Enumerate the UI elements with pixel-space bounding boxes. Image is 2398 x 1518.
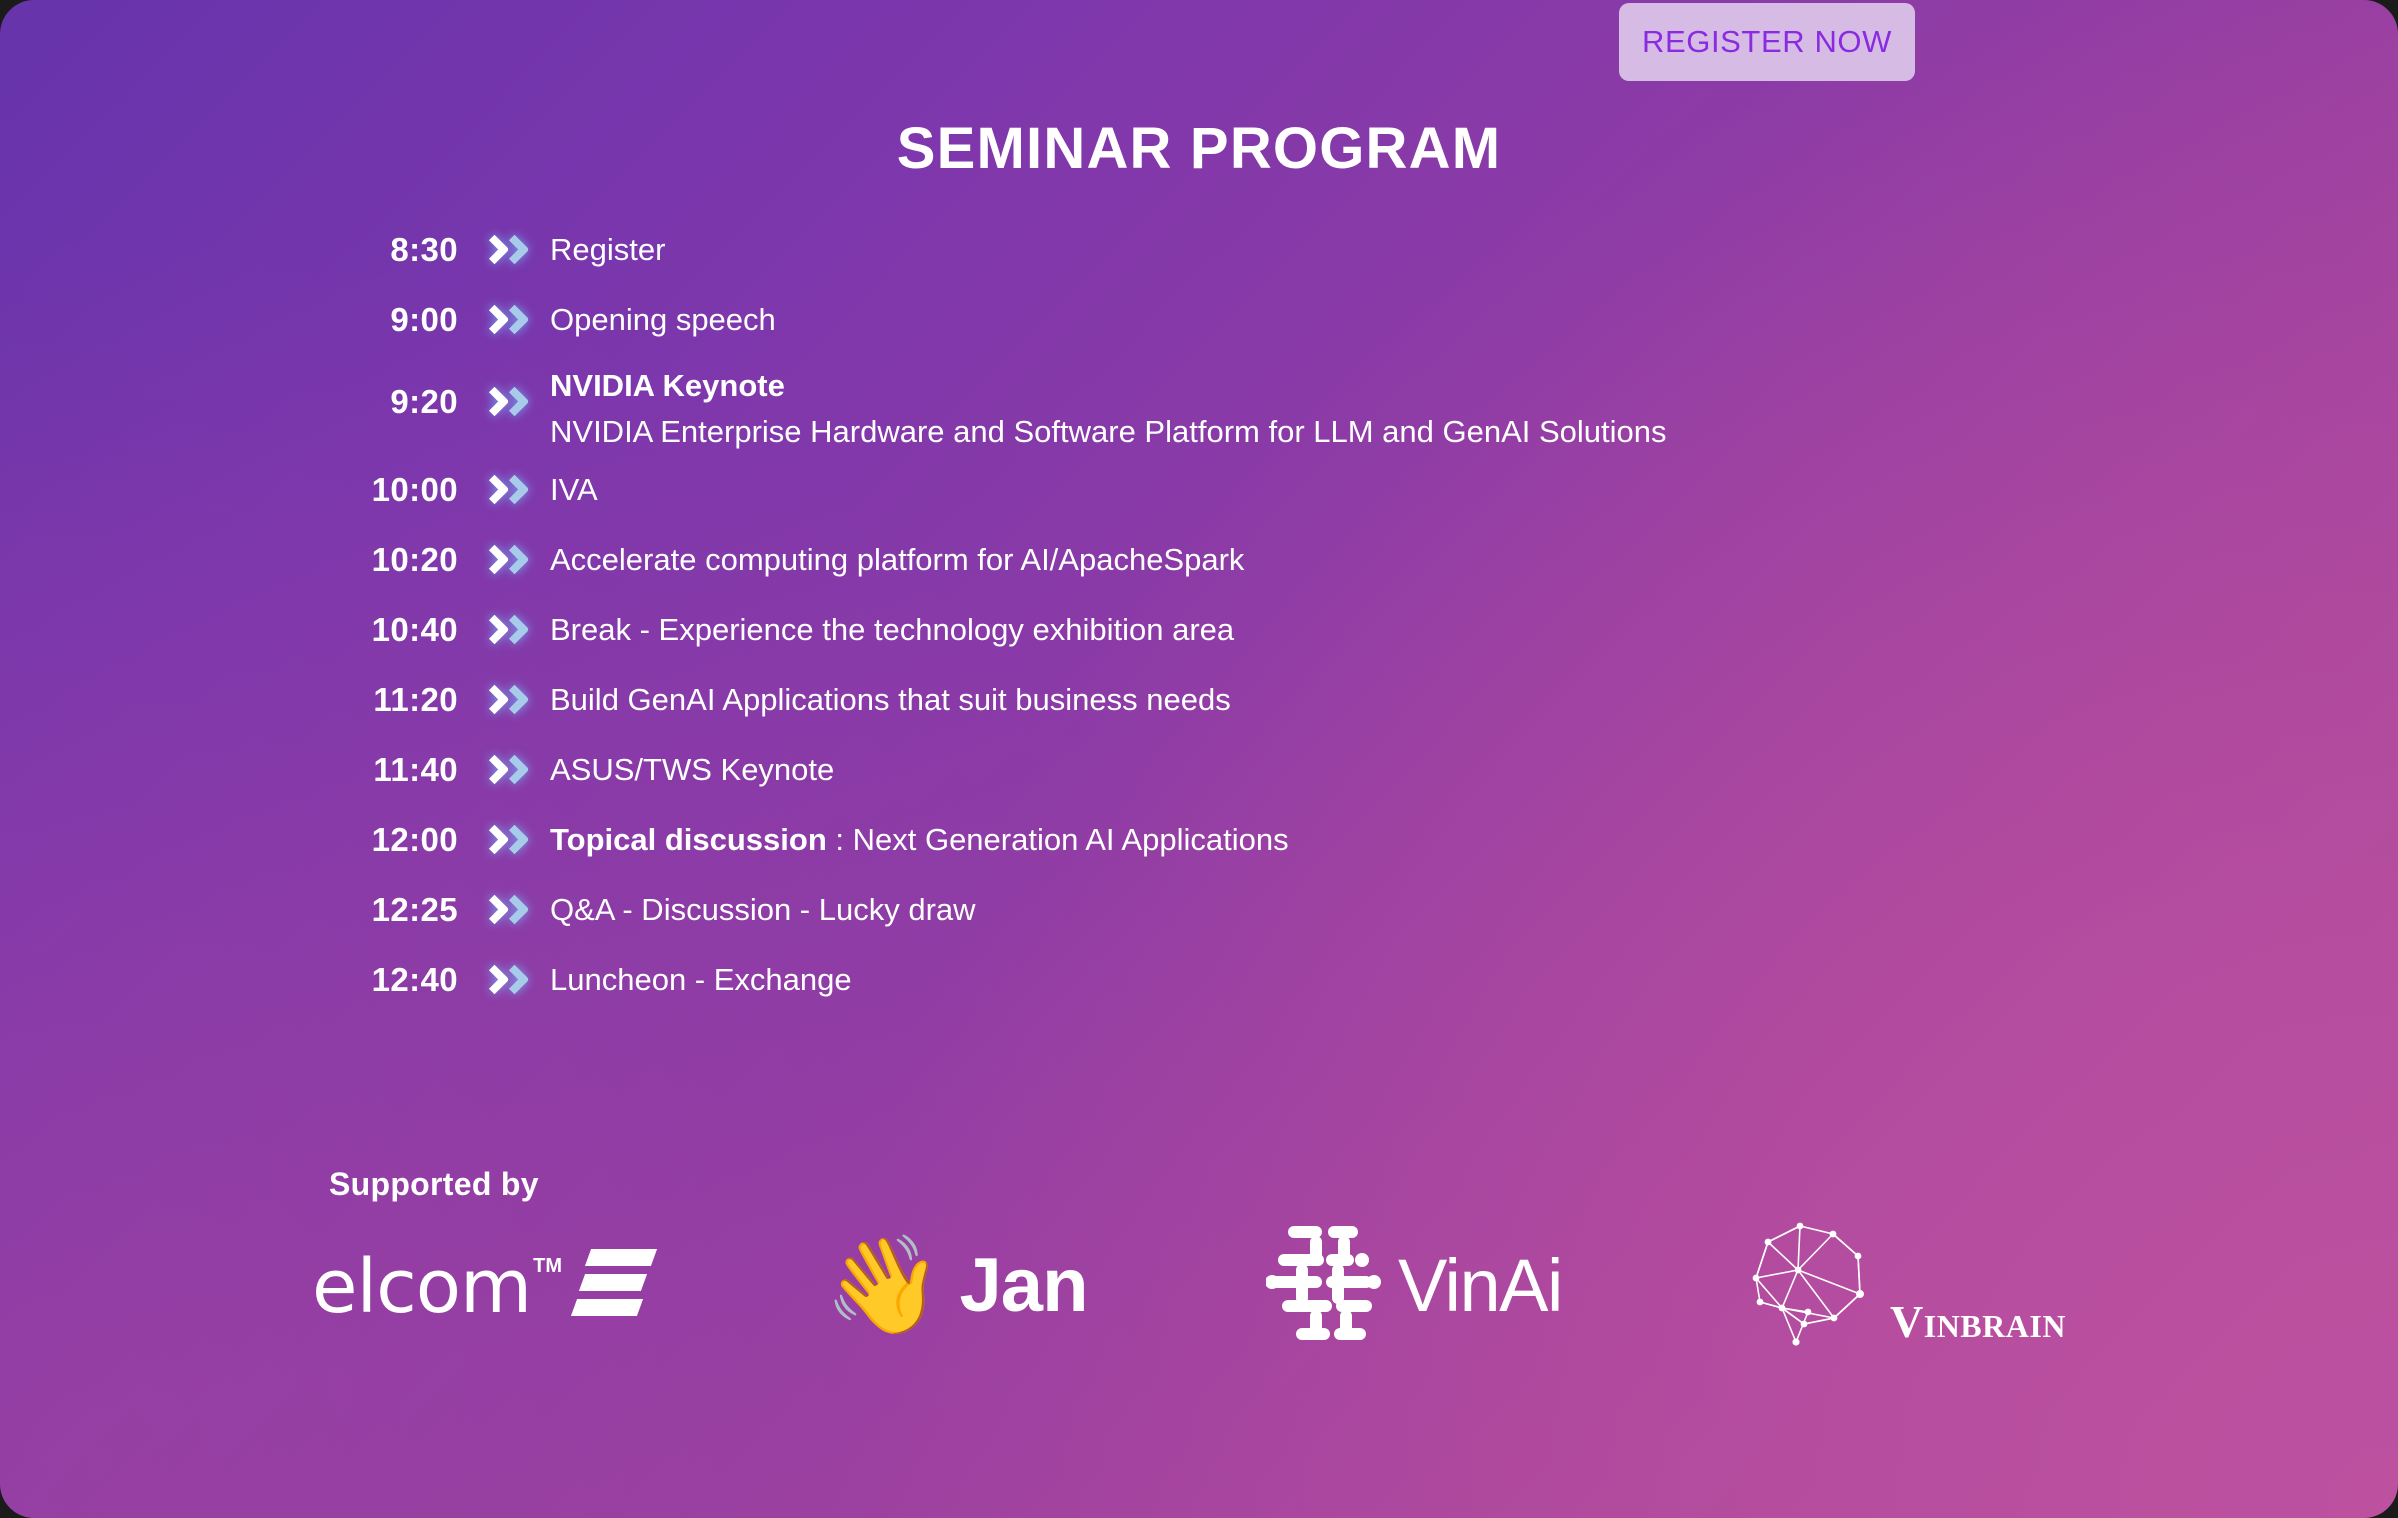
double-chevron-icon [458,215,550,285]
agenda-time: 12:40 [330,945,458,1015]
logo-elcom: elcom TM [300,1215,802,1355]
logo-jan: 👋 Jan [802,1215,1254,1355]
agenda-time: 10:20 [330,525,458,595]
vinbrain-rest: INBRAIN [1924,1308,2066,1344]
vinbrain-initial: V [1890,1296,1924,1347]
seminar-program-slide: REGISTER NOW SEMINAR PROGRAM 8:30 Regist… [0,0,2398,1518]
double-chevron-icon [458,525,550,595]
agenda-title-block: NVIDIA Keynote NVIDIA Enterprise Hardwar… [550,355,2130,455]
supporter-logo-strip: elcom TM 👋 Jan [300,1215,2150,1355]
double-chevron-icon [458,665,550,735]
agenda-text-suffix: : Next Generation AI Applications [827,822,1289,857]
agenda-row: 10:40 Break - Experience the technology … [330,595,2130,665]
agenda-bold-prefix: Topical discussion [550,822,827,857]
vinai-wordmark: VinAi [1398,1243,1562,1328]
agenda-time: 9:20 [330,355,458,449]
agenda-title: IVA [550,455,2130,525]
page-title: SEMINAR PROGRAM [0,115,2398,182]
agenda-time: 11:40 [330,735,458,805]
trademark-icon: TM [533,1255,562,1278]
agenda-time: 12:25 [330,875,458,945]
vinai-circuit-mark-icon [1266,1220,1384,1351]
logo-vinai: VinAi [1254,1215,1726,1355]
agenda-row: 10:00 IVA [330,455,2130,525]
agenda-row: 11:20 Build GenAI Applications that suit… [330,665,2130,735]
agenda-title: Accelerate computing platform for AI/Apa… [550,525,2130,595]
agenda-time: 8:30 [330,215,458,285]
double-chevron-icon [458,735,550,805]
agenda-time: 12:00 [330,805,458,875]
agenda-row: 12:00 Topical discussion : Next Generati… [330,805,2130,875]
double-chevron-icon [458,875,550,945]
agenda-heading: NVIDIA Keynote [550,363,2130,409]
waving-hand-icon: 👋 [824,1237,944,1333]
elcom-e-mark-icon [574,1249,654,1317]
agenda-title: Build GenAI Applications that suit busin… [550,665,2130,735]
agenda-row: 8:30 Register [330,215,2130,285]
agenda-row: 11:40 ASUS/TWS Keynote [330,735,2130,805]
agenda-title: Register [550,215,2130,285]
vinbrain-wordmark: VINBRAIN [1890,1295,2066,1348]
agenda-row: 10:20 Accelerate computing platform for … [330,525,2130,595]
agenda-title: Opening speech [550,285,2130,355]
agenda-title: Break - Experience the technology exhibi… [550,595,2130,665]
agenda-row: 12:25 Q&A - Discussion - Lucky draw [330,875,2130,945]
jan-wordmark: Jan [960,1242,1088,1329]
agenda-row: 9:20 NVIDIA Keynote NVIDIA Enterprise Ha… [330,355,2130,455]
double-chevron-icon [458,945,550,1015]
elcom-wordmark: elcom [312,1253,531,1321]
agenda-row: 12:40 Luncheon - Exchange [330,945,2130,1015]
logo-vinbrain: VINBRAIN [1726,1215,2188,1355]
agenda-time: 10:00 [330,455,458,525]
agenda-time: 11:20 [330,665,458,735]
agenda-title: Topical discussion : Next Generation AI … [550,805,2130,875]
double-chevron-icon [458,455,550,525]
double-chevron-icon [458,805,550,875]
agenda-time: 9:00 [330,285,458,355]
agenda-subtitle: NVIDIA Enterprise Hardware and Software … [550,409,2130,455]
agenda-list: 8:30 Register 9:00 Opening speech 9:20 N… [330,215,2130,1015]
agenda-time: 10:40 [330,595,458,665]
double-chevron-icon [458,355,550,449]
agenda-row: 9:00 Opening speech [330,285,2130,355]
agenda-title: ASUS/TWS Keynote [550,735,2130,805]
register-now-button[interactable]: REGISTER NOW [1619,3,1915,81]
supported-by-label: Supported by [329,1166,539,1203]
agenda-title: Q&A - Discussion - Lucky draw [550,875,2130,945]
agenda-title: Luncheon - Exchange [550,945,2130,1015]
double-chevron-icon [458,595,550,665]
double-chevron-icon [458,285,550,355]
